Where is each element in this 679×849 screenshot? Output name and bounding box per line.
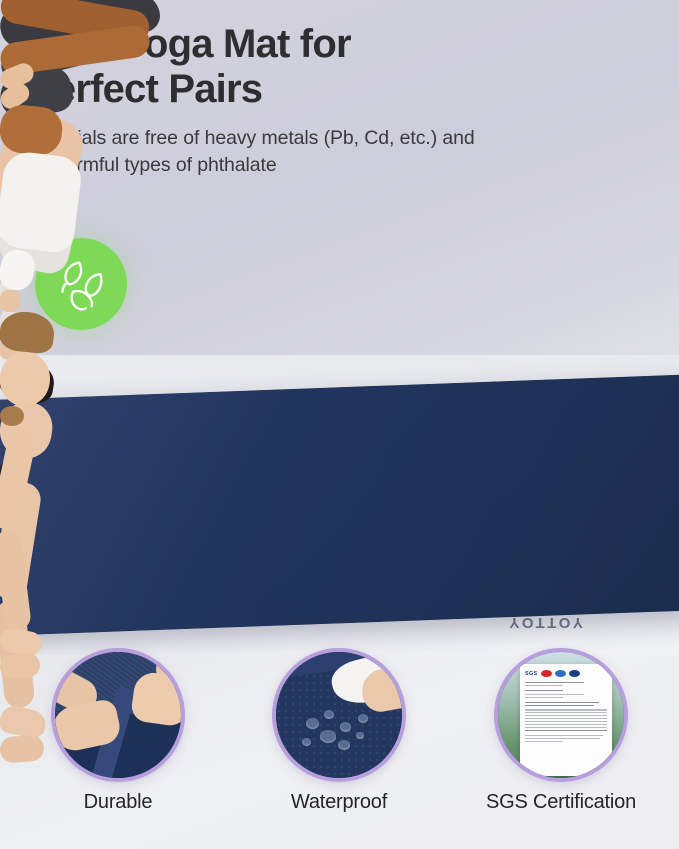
report-line bbox=[525, 735, 603, 736]
girl-sleeve bbox=[0, 247, 38, 293]
report-line bbox=[525, 715, 607, 716]
report-line bbox=[525, 727, 607, 728]
water-droplet bbox=[320, 730, 336, 743]
cert-badge-cnas bbox=[569, 670, 580, 677]
report-line bbox=[525, 724, 607, 725]
feature-row: Durable Waterproof bbox=[0, 648, 679, 849]
girl-torso bbox=[0, 150, 84, 255]
girl-arm-left bbox=[0, 529, 32, 631]
report-line bbox=[525, 721, 607, 722]
report-line bbox=[525, 705, 594, 706]
sgs-logo: SGS bbox=[525, 671, 538, 677]
girl-hair bbox=[0, 309, 56, 354]
waterproof-photo-circle bbox=[272, 648, 406, 782]
report-logo-row: SGS bbox=[525, 670, 607, 677]
water-droplet bbox=[340, 722, 351, 732]
girl-hip bbox=[0, 103, 64, 157]
report-line bbox=[525, 730, 607, 731]
water-droplet bbox=[306, 718, 319, 729]
report-line bbox=[525, 741, 563, 742]
report-line bbox=[525, 685, 563, 686]
hand-right bbox=[130, 670, 185, 727]
girl-neck bbox=[0, 290, 20, 312]
water-droplet bbox=[358, 714, 368, 723]
feature-waterproof: Waterproof bbox=[226, 648, 452, 814]
girl-hair-bun bbox=[0, 406, 24, 426]
water-droplet bbox=[338, 740, 350, 750]
report-line bbox=[525, 709, 607, 710]
water-droplet bbox=[302, 738, 311, 746]
durable-photo-circle bbox=[51, 648, 185, 782]
report-line bbox=[525, 697, 563, 698]
report-line bbox=[525, 682, 584, 683]
report-line bbox=[525, 712, 607, 713]
report-line bbox=[525, 702, 599, 703]
girl-arm-right bbox=[0, 424, 39, 532]
feature-caption: Waterproof bbox=[226, 791, 452, 814]
cert-badge-iec bbox=[541, 670, 552, 677]
report-line bbox=[525, 718, 607, 719]
girl-head bbox=[0, 350, 53, 409]
feature-caption: Durable bbox=[5, 791, 231, 814]
report-results-table bbox=[525, 709, 607, 730]
sgs-photo-circle: SGS bbox=[494, 648, 628, 782]
report-line bbox=[525, 694, 584, 695]
sgs-test-report: SGS bbox=[520, 664, 612, 776]
girl-figure bbox=[0, 0, 150, 678]
product-marketing-page: Dual Yoga Mat for Perfect Pairs Material… bbox=[0, 0, 679, 849]
mat-brand-logo: YOTTOY bbox=[507, 614, 583, 631]
report-line bbox=[525, 690, 563, 691]
cert-badge-iso bbox=[555, 670, 566, 677]
feature-durable: Durable bbox=[5, 648, 231, 814]
water-droplet bbox=[356, 732, 364, 739]
water-droplet bbox=[324, 710, 334, 719]
feature-caption: SGS Certification bbox=[448, 791, 674, 814]
feature-sgs: SGS bbox=[448, 648, 674, 814]
report-line bbox=[525, 738, 600, 739]
